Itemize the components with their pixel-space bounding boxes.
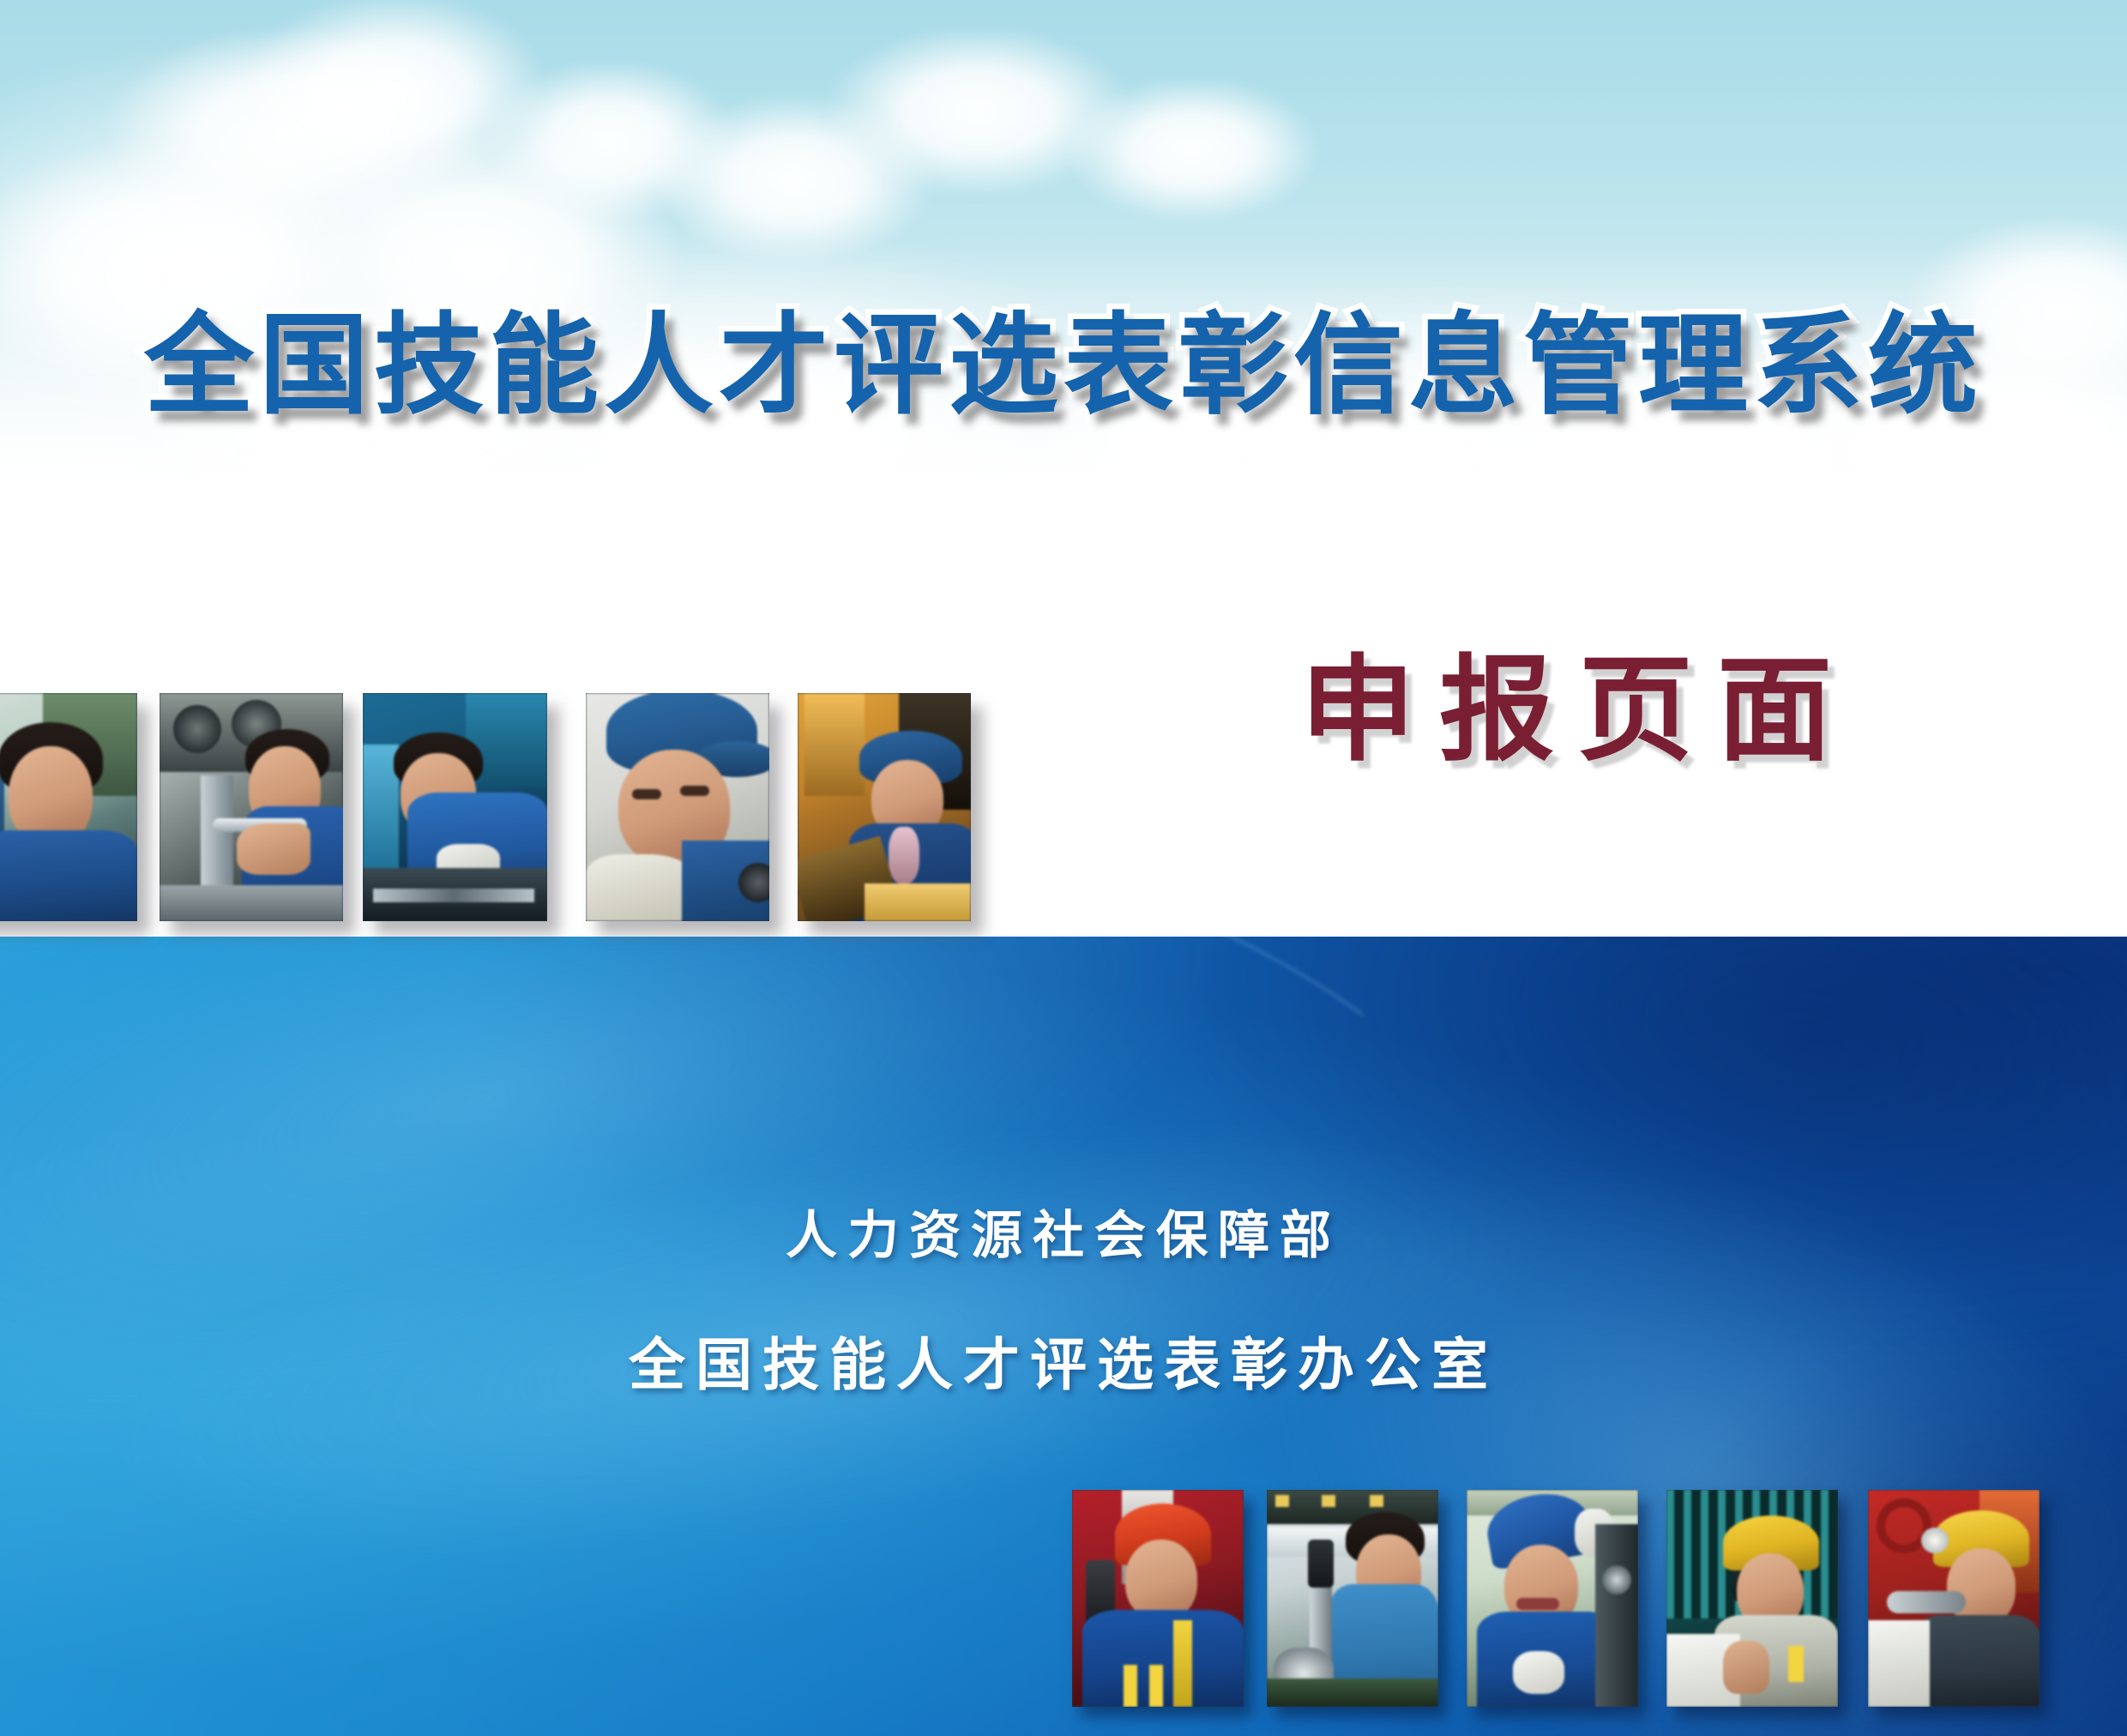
org-line-ministry: 人力资源社会保障部 (0, 1194, 2127, 1269)
photo-strip-top (0, 678, 1029, 935)
sky-background (0, 0, 2127, 515)
photo-worker-assembling-with-gloves (363, 693, 547, 921)
subtitle-shenbao-page: 申报页面 (1166, 635, 1990, 785)
org-line-office: 全国技能人才评选表彰办公室 (0, 1319, 2127, 1401)
page-title: 全国技能人才评选表彰信息管理系统 (0, 302, 2127, 431)
photo-welder-lifting-blue-welding-mask (1467, 1490, 1638, 1707)
photo-strip-bottom (1055, 1475, 2127, 1733)
photo-worker-at-lathe-blue-uniform (0, 693, 137, 921)
photo-worker-in-blue-cap-at-machine (798, 693, 971, 921)
photo-technician-yellow-helmet-with-document (1666, 1490, 1838, 1707)
cover-slide: 全国技能人才评选表彰信息管理系统 申报页面 (0, 0, 2127, 1736)
photo-miner-yellow-helmet-with-lamp (1868, 1490, 2040, 1707)
photo-worker-measuring-part-blue-uniform (160, 693, 343, 921)
photo-worker-inspecting-shaft-blue-shirt (1267, 1490, 1438, 1707)
photo-worker-with-radio-red-helmet (1072, 1490, 1244, 1707)
photo-worker-in-blue-flat-cap-smiling (586, 693, 769, 921)
